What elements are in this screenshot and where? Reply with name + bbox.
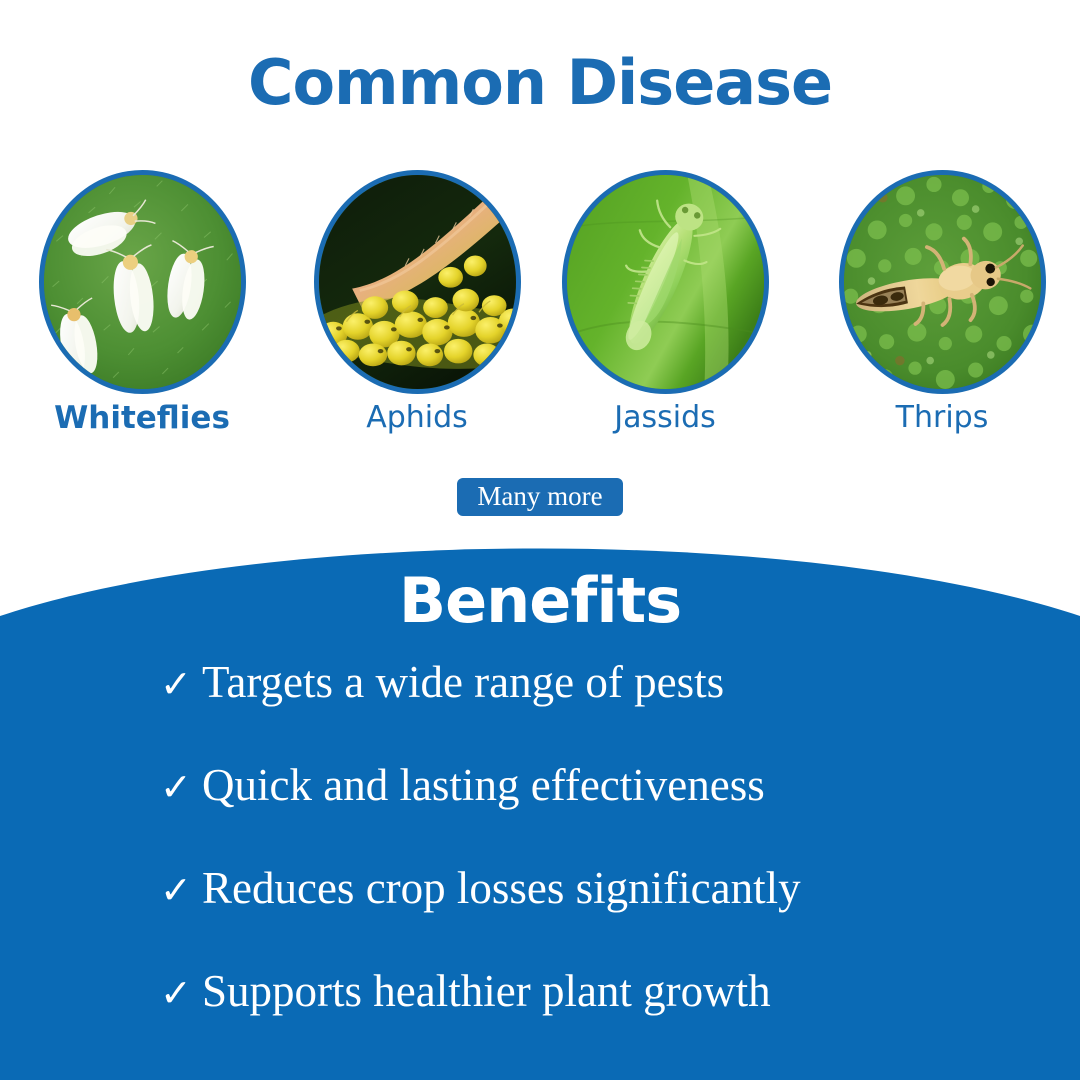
benefit-text: Targets a wide range of pests [202, 658, 724, 708]
benefits-list: ✓ Targets a wide range of pests ✓ Quick … [160, 658, 1020, 1070]
whiteflies-photo [39, 170, 246, 394]
benefits-title: Benefits [0, 570, 1080, 632]
check-icon: ✓ [160, 974, 202, 1012]
check-icon: ✓ [160, 768, 202, 806]
infographic-poster: Common Disease [0, 0, 1080, 1080]
benefits-panel: Benefits ✓ Targets a wide range of pests… [0, 520, 1080, 1080]
benefit-item: ✓ Targets a wide range of pests [160, 658, 1020, 761]
benefit-text: Supports healthier plant growth [202, 967, 771, 1017]
aphids-photo [314, 170, 521, 394]
page-title: Common Disease [0, 52, 1080, 114]
thrips-photo [839, 170, 1046, 394]
pest-card-jassids[interactable]: Jassids [560, 170, 770, 434]
pest-label: Thrips [837, 401, 1047, 434]
many-more-container: Many more [0, 478, 1080, 516]
check-icon: ✓ [160, 871, 202, 909]
pest-card-whiteflies[interactable]: Whiteflies [37, 170, 247, 435]
benefit-item: ✓ Quick and lasting effectiveness [160, 761, 1020, 864]
pest-label: Whiteflies [37, 401, 247, 435]
pest-card-aphids[interactable]: Aphids [312, 170, 522, 434]
pest-card-thrips[interactable]: Thrips [837, 170, 1047, 434]
check-icon: ✓ [160, 665, 202, 703]
benefit-text: Reduces crop losses significantly [202, 864, 801, 914]
benefit-text: Quick and lasting effectiveness [202, 761, 765, 811]
benefit-item: ✓ Reduces crop losses significantly [160, 864, 1020, 967]
pest-label: Jassids [560, 401, 770, 434]
benefit-item: ✓ Supports healthier plant growth [160, 967, 1020, 1070]
pest-gallery: Whiteflies [0, 170, 1080, 450]
jassids-photo [562, 170, 769, 394]
many-more-badge[interactable]: Many more [457, 478, 622, 516]
pest-label: Aphids [312, 401, 522, 434]
